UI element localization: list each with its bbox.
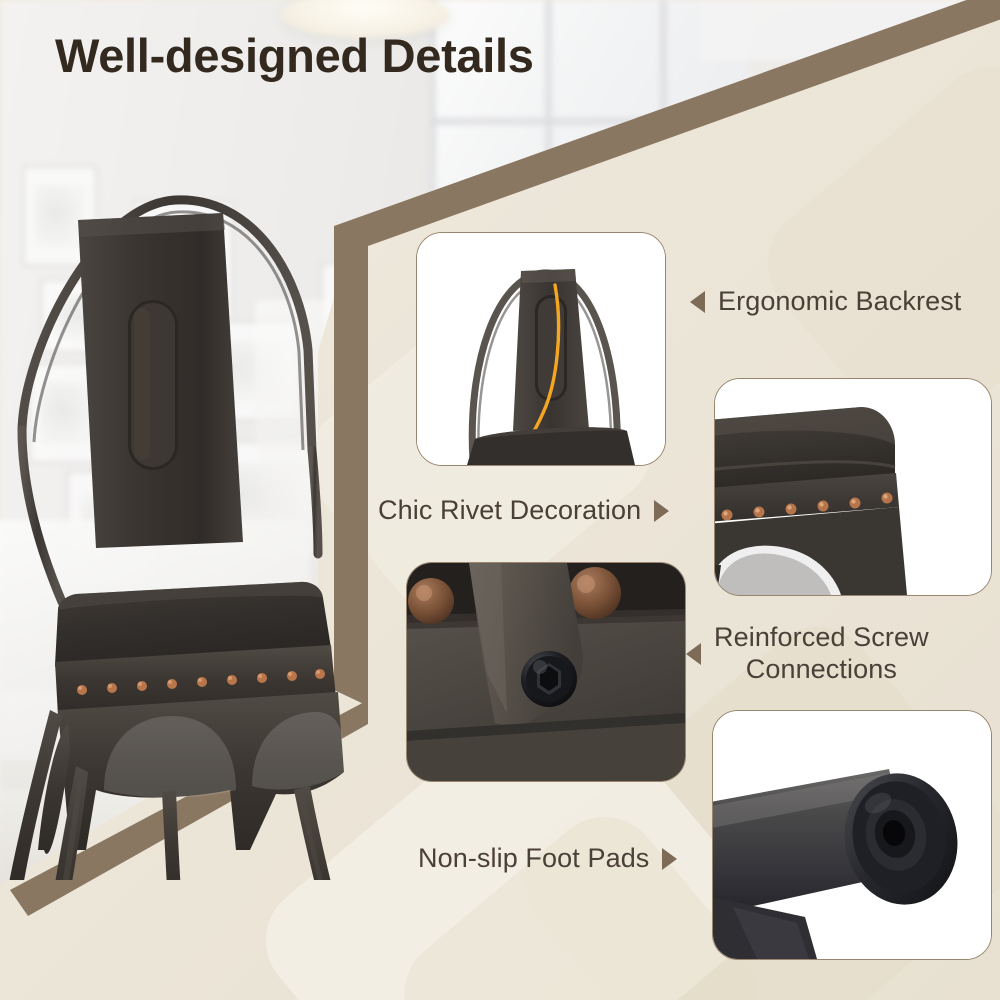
triangle-left-icon <box>690 291 705 313</box>
triangle-right-icon <box>654 500 669 522</box>
seat-rivets-closeup-image <box>715 379 991 595</box>
infographic-canvas: Well-designed Details <box>0 0 1000 1000</box>
foot-pad-closeup-image <box>713 711 991 959</box>
screw-connection-closeup-image <box>407 563 685 781</box>
feature-card-chic-rivet-decoration[interactable] <box>714 378 992 596</box>
feature-label-non-slip-foot-pads: Non-slip Foot Pads <box>418 843 677 875</box>
main-product-image <box>0 150 430 880</box>
feature-label-ergonomic-backrest: Ergonomic Backrest <box>690 286 961 318</box>
triangle-left-icon <box>686 643 701 665</box>
feature-label-reinforced-screw-connections: Reinforced Screw Connections <box>686 622 929 686</box>
feature-label-chic-rivet-decoration: Chic Rivet Decoration <box>378 495 669 527</box>
triangle-right-icon <box>662 848 677 870</box>
feature-card-ergonomic-backrest[interactable] <box>416 232 666 466</box>
feature-card-non-slip-foot-pads[interactable] <box>712 710 992 960</box>
page-title: Well-designed Details <box>55 28 534 83</box>
feature-card-reinforced-screw-connections[interactable] <box>406 562 686 782</box>
backrest-closeup-image <box>417 233 665 465</box>
